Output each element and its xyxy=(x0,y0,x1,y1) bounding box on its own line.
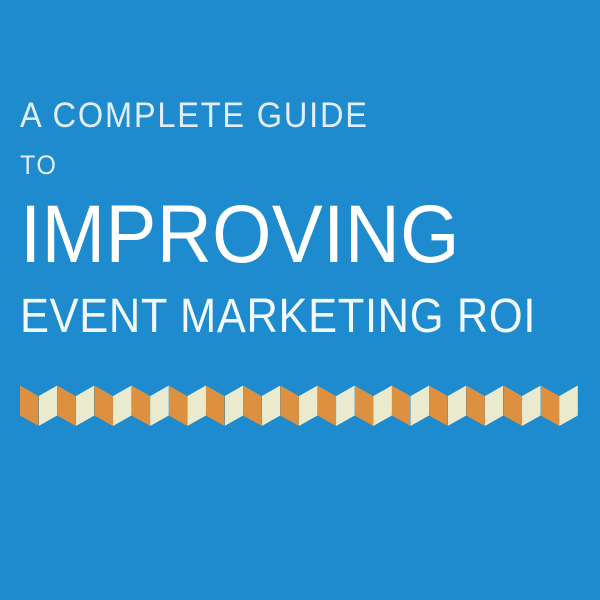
chevron-unit xyxy=(132,382,169,426)
chevron-cream-facet xyxy=(150,382,169,426)
chevron-orange-facet xyxy=(280,382,299,426)
chevron-cream-facet xyxy=(522,382,541,426)
chevron-orange-facet xyxy=(503,382,522,426)
chevron-cream-facet xyxy=(187,382,206,426)
chevron-unit xyxy=(243,382,280,426)
chevron-unit xyxy=(280,382,317,426)
chevron-orange-facet xyxy=(429,382,448,426)
chevron-cream-facet xyxy=(113,382,132,426)
chevron-unit xyxy=(429,382,466,426)
eyebrow-text: A COMPLETE GUIDE xyxy=(20,96,546,136)
chevron-divider xyxy=(20,382,578,426)
chevron-cream-facet xyxy=(262,382,281,426)
chevron-orange-facet xyxy=(57,382,76,426)
chevron-unit xyxy=(392,382,429,426)
chevron-cream-facet xyxy=(336,382,355,426)
chevron-orange-facet xyxy=(20,382,39,426)
subhead-text: EVENT MARKETING ROI xyxy=(20,291,532,343)
chevron-unit xyxy=(94,382,131,426)
chevron-orange-facet xyxy=(169,382,188,426)
chevron-orange-facet xyxy=(132,382,151,426)
chevron-orange-facet xyxy=(541,382,560,426)
title-block: A COMPLETE GUIDE TO IMPROVING EVENT MARK… xyxy=(20,96,586,343)
chevron-cream-facet xyxy=(39,382,58,426)
headline-text: IMPROVING xyxy=(20,193,546,277)
chevron-cream-facet xyxy=(225,382,244,426)
chevron-orange-facet xyxy=(206,382,225,426)
chevron-cream-facet xyxy=(299,382,318,426)
connector-text: TO xyxy=(20,150,546,181)
chevron-orange-facet xyxy=(243,382,262,426)
chevron-cream-facet xyxy=(76,382,95,426)
chevron-unit xyxy=(318,382,355,426)
chevron-unit xyxy=(169,382,206,426)
chevron-unit xyxy=(466,382,503,426)
chevron-cream-facet xyxy=(410,382,429,426)
chevron-orange-facet xyxy=(318,382,337,426)
chevron-unit xyxy=(355,382,392,426)
chevron-orange-facet xyxy=(392,382,411,426)
chevron-cream-facet xyxy=(373,382,392,426)
chevron-unit xyxy=(541,382,578,426)
chevron-unit xyxy=(503,382,540,426)
chevron-cream-facet xyxy=(559,382,578,426)
chevron-unit xyxy=(57,382,94,426)
poster-canvas: A COMPLETE GUIDE TO IMPROVING EVENT MARK… xyxy=(0,0,600,600)
chevron-unit xyxy=(20,382,57,426)
chevron-orange-facet xyxy=(466,382,485,426)
chevron-orange-facet xyxy=(355,382,374,426)
chevron-unit xyxy=(206,382,243,426)
chevron-orange-facet xyxy=(94,382,113,426)
chevron-cream-facet xyxy=(448,382,467,426)
chevron-cream-facet xyxy=(485,382,504,426)
